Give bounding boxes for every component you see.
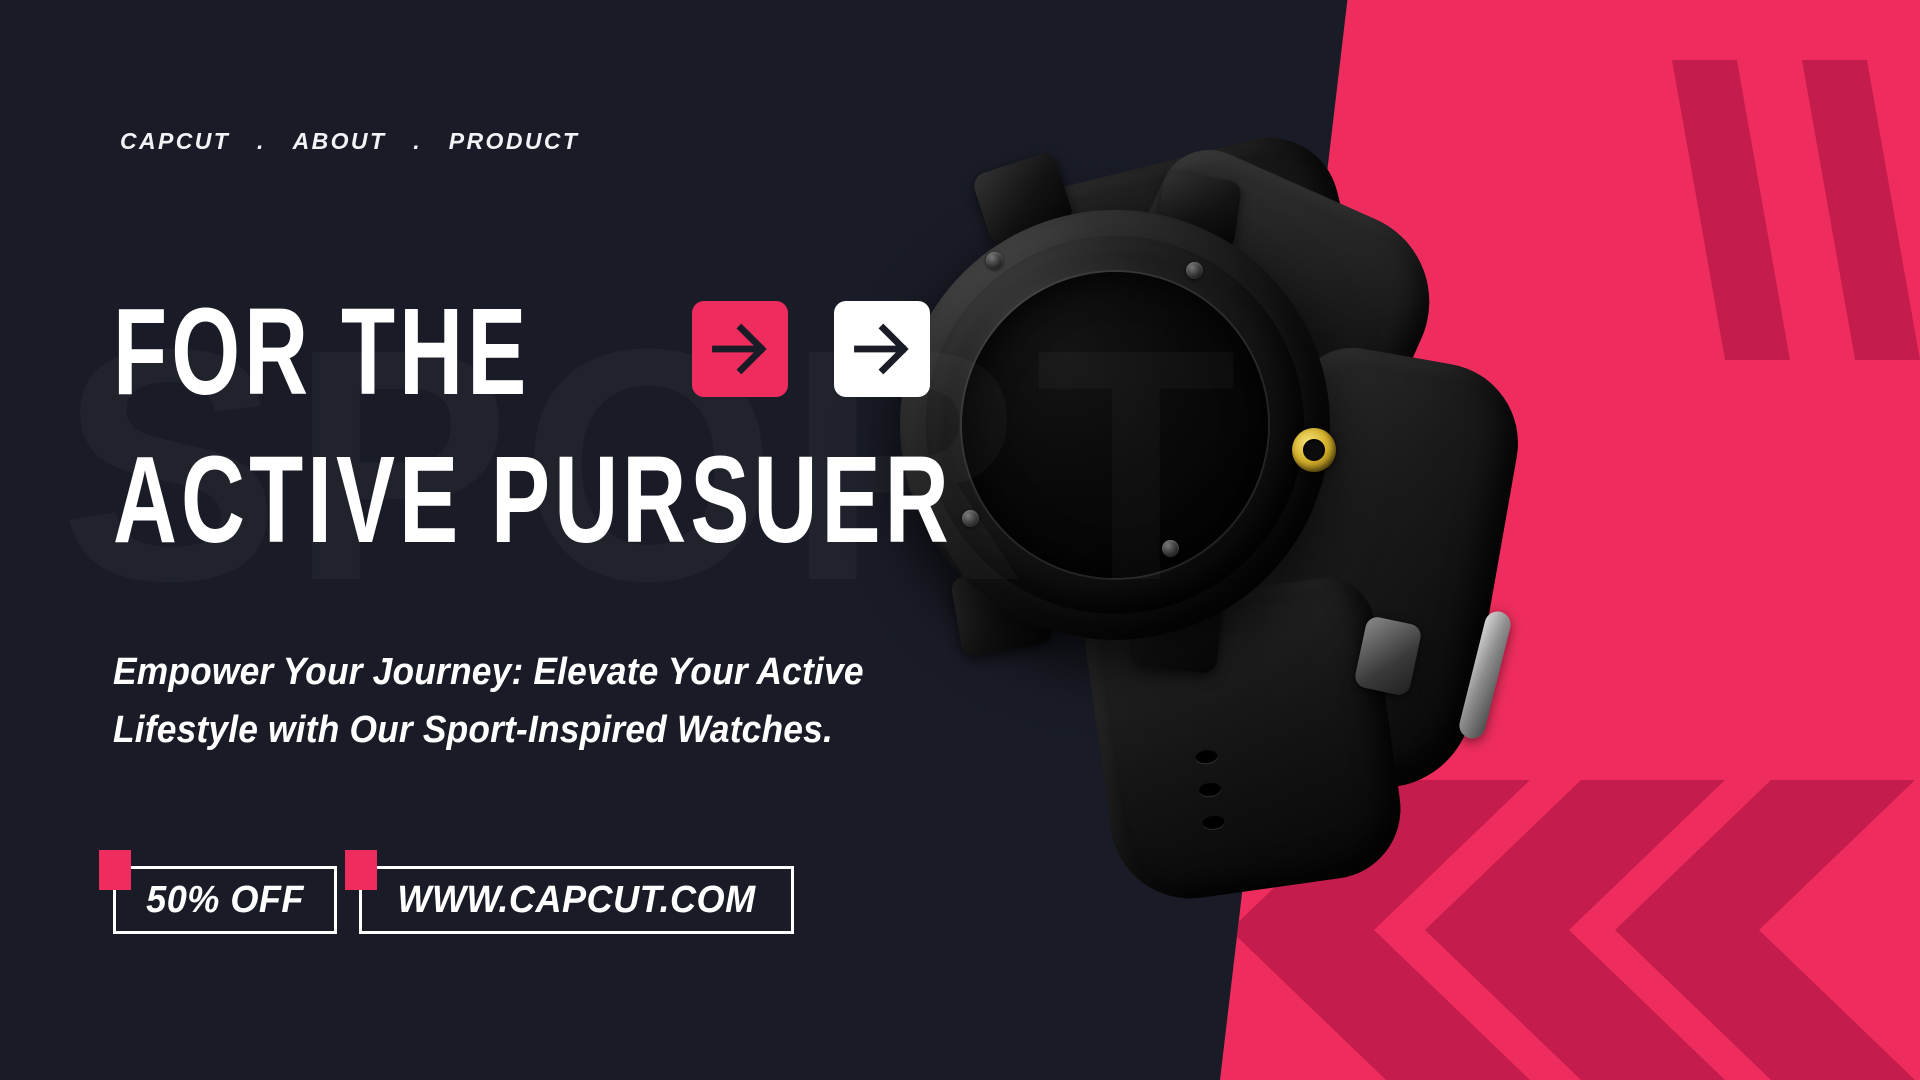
nav-item-about[interactable]: ABOUT <box>293 128 387 154</box>
badge-website[interactable]: WWW.CAPCUT.COM <box>359 866 794 934</box>
nav-item-product[interactable]: PRODUCT <box>449 128 580 154</box>
arrow-button-secondary[interactable] <box>834 301 930 397</box>
badge-discount-box[interactable]: 50% OFF <box>113 866 337 934</box>
headline-line-1: FOR THE <box>113 293 530 411</box>
arrow-button-group <box>692 301 930 397</box>
chevron-shape <box>1802 60 1920 360</box>
nav-separator: . <box>243 128 280 154</box>
arrow-right-icon <box>709 318 771 380</box>
headline-line-2: ACTIVE PURSUER <box>113 440 953 558</box>
headline-row-one: FOR THE <box>113 300 1137 404</box>
top-navigation: CAPCUT . ABOUT . PRODUCT <box>118 128 581 155</box>
arrow-button-primary[interactable] <box>692 301 788 397</box>
badge-discount-label: 50% OFF <box>146 879 304 922</box>
watch-screw <box>1186 262 1203 279</box>
badge-website-box[interactable]: WWW.CAPCUT.COM <box>359 866 794 934</box>
badge-corner-square <box>99 850 131 890</box>
badge-row: 50% OFF WWW.CAPCUT.COM <box>113 866 794 934</box>
watch-crown-button <box>1292 428 1336 472</box>
content-column: SPORT CAPCUT . ABOUT . PRODUCT FOR THE <box>0 0 1010 1080</box>
subtitle-block: Empower Your Journey: Elevate Your Activ… <box>113 644 864 760</box>
nav-separator: . <box>399 128 436 154</box>
subtitle-line-1: Empower Your Journey: Elevate Your Activ… <box>113 644 864 702</box>
badge-website-label: WWW.CAPCUT.COM <box>398 879 756 922</box>
chevron-shape <box>1672 60 1790 360</box>
banner-stage: SPORT CAPCUT . ABOUT . PRODUCT FOR THE <box>0 0 1920 1080</box>
subtitle-line-2: Lifestyle with Our Sport-Inspired Watche… <box>113 702 864 760</box>
nav-item-capcut[interactable]: CAPCUT <box>120 128 230 154</box>
arrow-right-icon <box>851 318 913 380</box>
badge-corner-square <box>345 850 377 890</box>
badge-discount[interactable]: 50% OFF <box>113 866 337 934</box>
headline-block: FOR THE ACTIV <box>113 300 1137 551</box>
